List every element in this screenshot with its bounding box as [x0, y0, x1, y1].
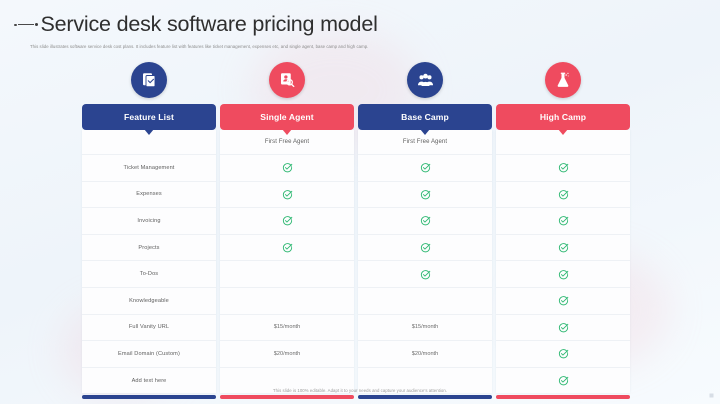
- column-header-single_agent[interactable]: Single Agent: [220, 104, 354, 130]
- check-circle-icon: [558, 295, 569, 306]
- column-header-high_camp[interactable]: High Camp: [496, 104, 630, 130]
- table-cell[interactable]: To-Dos: [82, 261, 216, 288]
- corner-mark-icon: [709, 393, 714, 398]
- feature-label: Add text here: [132, 378, 167, 384]
- check-circle-icon: [558, 348, 569, 359]
- table-cell: [496, 261, 630, 288]
- column-footer-bar-base_camp: [358, 395, 492, 399]
- slide-canvas: Service desk software pricing model This…: [0, 0, 720, 404]
- table-cell[interactable]: Full Vanity URL: [82, 315, 216, 342]
- column-body-base_camp: First Free Agent$15/month$20/month: [358, 130, 492, 393]
- price-label: $15/month: [274, 324, 300, 330]
- slide-header: Service desk software pricing model This…: [0, 0, 720, 36]
- table-cell: [220, 208, 354, 235]
- table-cell[interactable]: Knowledgeable: [82, 288, 216, 315]
- check-circle-icon: [558, 269, 569, 280]
- table-cell: $20/month: [358, 341, 492, 368]
- check-circle-icon: [420, 242, 431, 253]
- table-cell: [496, 235, 630, 262]
- check-circle-icon: [282, 162, 293, 173]
- column-footer-bar-single_agent: [220, 395, 354, 399]
- check-circle-icon: [558, 322, 569, 333]
- table-cell[interactable]: Ticket Management: [82, 155, 216, 182]
- table-cell: [496, 341, 630, 368]
- people-group-icon: [407, 62, 443, 98]
- check-circle-icon: [558, 375, 569, 386]
- table-cell: [220, 261, 354, 288]
- column-header-label: Single Agent: [260, 112, 313, 122]
- table-cell: [496, 182, 630, 209]
- table-cell: $15/month: [220, 315, 354, 342]
- check-circle-icon: [282, 242, 293, 253]
- pricing-column-base_camp: Base CampFirst Free Agent$15/month$20/mo…: [358, 104, 492, 399]
- feature-label: Expenses: [136, 191, 162, 197]
- check-circle-icon: [420, 189, 431, 200]
- price-label: $20/month: [274, 351, 300, 357]
- clipboard-document-icon: [131, 62, 167, 98]
- table-cell: [358, 182, 492, 209]
- table-cell[interactable]: Invoicing: [82, 208, 216, 235]
- feature-label: Invoicing: [137, 218, 160, 224]
- title-row: Service desk software pricing model: [0, 0, 720, 36]
- feature-label: Knowledgeable: [129, 298, 169, 304]
- pricing-column-feature: Feature ListTicket ManagementExpensesInv…: [82, 104, 216, 399]
- flask-icon: [545, 62, 581, 98]
- column-body-feature: Ticket ManagementExpensesInvoicingProjec…: [82, 130, 216, 393]
- table-cell[interactable]: Expenses: [82, 182, 216, 209]
- page-title: Service desk software pricing model: [41, 14, 378, 36]
- table-cell: [358, 261, 492, 288]
- column-header-feature[interactable]: Feature List: [82, 104, 216, 130]
- check-circle-icon: [558, 242, 569, 253]
- table-cell: [358, 208, 492, 235]
- feature-label: Ticket Management: [124, 165, 175, 171]
- check-circle-icon: [558, 215, 569, 226]
- check-circle-icon: [420, 162, 431, 173]
- check-circle-icon: [282, 215, 293, 226]
- table-cell: [220, 235, 354, 262]
- column-header-base_camp[interactable]: Base Camp: [358, 104, 492, 130]
- feature-label: Email Domain (Custom): [118, 351, 180, 357]
- pricing-table: Feature ListTicket ManagementExpensesInv…: [82, 104, 638, 399]
- table-cell: [220, 155, 354, 182]
- feature-label: Full Vanity URL: [129, 324, 169, 330]
- column-footer-bar-high_camp: [496, 395, 630, 399]
- column-body-single_agent: First Free Agent$15/month$20/month: [220, 130, 354, 393]
- price-label: $15/month: [412, 324, 438, 330]
- table-cell: [220, 182, 354, 209]
- column-subheader-label: First Free Agent: [265, 139, 309, 145]
- column-header-label: High Camp: [540, 112, 586, 122]
- column-subheader-label: First Free Agent: [403, 139, 447, 145]
- table-cell: [358, 235, 492, 262]
- pricing-column-single_agent: Single AgentFirst Free Agent$15/month$20…: [220, 104, 354, 399]
- footer-note: This slide is 100% editable. Adapt it to…: [0, 388, 720, 393]
- slide-subtitle: This slide illustrates software service …: [30, 44, 690, 50]
- check-circle-icon: [420, 269, 431, 280]
- user-search-icon: [269, 62, 305, 98]
- table-cell: [496, 208, 630, 235]
- check-circle-icon: [558, 162, 569, 173]
- table-cell: [358, 288, 492, 315]
- column-footer-bar-feature: [82, 395, 216, 399]
- title-bullet-icon: [14, 23, 38, 26]
- feature-label: To-Dos: [140, 271, 158, 277]
- table-cell: [496, 155, 630, 182]
- column-header-label: Base Camp: [401, 112, 449, 122]
- column-body-high_camp: [496, 130, 630, 393]
- table-cell: [220, 288, 354, 315]
- table-cell: [358, 155, 492, 182]
- pricing-column-high_camp: High Camp: [496, 104, 630, 399]
- table-cell: $15/month: [358, 315, 492, 342]
- check-circle-icon: [282, 189, 293, 200]
- table-cell[interactable]: Projects: [82, 235, 216, 262]
- price-label: $20/month: [412, 351, 438, 357]
- feature-label: Projects: [138, 245, 159, 251]
- table-cell: [496, 315, 630, 342]
- table-cell: $20/month: [220, 341, 354, 368]
- table-cell: [496, 288, 630, 315]
- column-header-label: Feature List: [124, 112, 174, 122]
- table-cell[interactable]: Email Domain (Custom): [82, 341, 216, 368]
- check-circle-icon: [558, 189, 569, 200]
- check-circle-icon: [420, 215, 431, 226]
